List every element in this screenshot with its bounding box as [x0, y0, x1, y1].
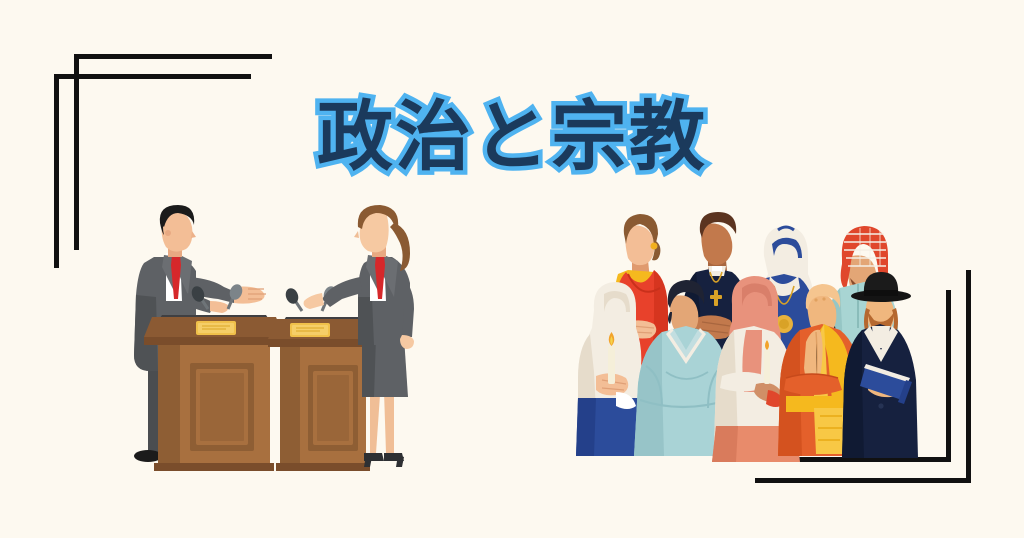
poster-canvas: 政治と宗教	[0, 0, 1024, 538]
title-container: 政治と宗教	[0, 96, 1024, 178]
interfaith-group-illustration	[570, 200, 915, 465]
bracket-inner-horizontal-top-left	[74, 54, 272, 59]
bracket-outer-vertical-top-left	[54, 74, 59, 268]
debate-illustration	[118, 205, 428, 480]
bracket-outer-horizontal-top-left	[54, 74, 251, 79]
bracket-outer-horizontal-bottom-right	[755, 478, 971, 483]
bracket-inner-vertical-bottom-right	[946, 290, 951, 462]
bracket-inner-vertical-top-left	[74, 54, 79, 250]
page-title: 政治と宗教	[317, 96, 707, 178]
bracket-outer-vertical-bottom-right	[966, 270, 971, 483]
